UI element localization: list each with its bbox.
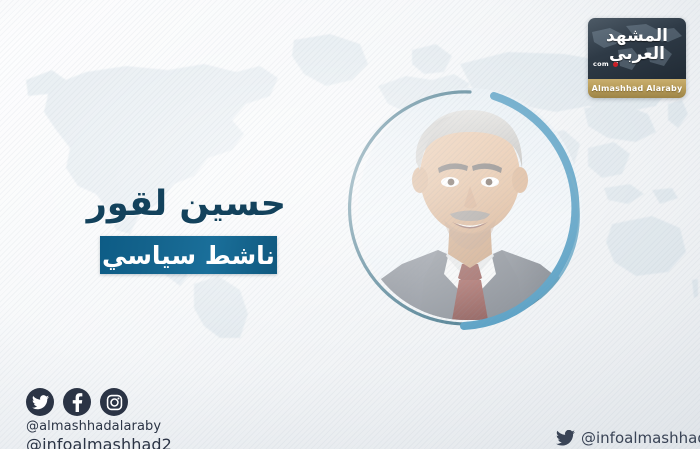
footer-twitter-handle-right: @infoalmashhad2 [556,429,700,447]
bottom-white-strip [0,449,700,459]
logo-latin-name: Almashhad Alaraby [592,84,683,93]
person-name: حسين لقور [0,186,286,223]
portrait-container [350,88,590,328]
logo-bottom-panel: Almashhad Alaraby [588,79,686,98]
logo-arabic-text: المشهد العربي [588,28,686,63]
footer-twitter-handle-text: @infoalmashhad2 [581,429,700,447]
person-title-text: ناشط سياسي [102,243,275,268]
logo-arabic-line1: المشهد [606,26,668,46]
brand-logo: المشهد العربي com Almashhad Alaraby [588,18,686,98]
instagram-icon[interactable] [100,388,128,416]
logo-com-label: com [593,60,609,68]
handle-primary: @almashhadalaraby [26,420,172,435]
facebook-icon[interactable] [63,388,91,416]
twitter-icon[interactable] [26,388,54,416]
logo-red-dot [613,62,618,67]
social-icons-row [26,388,128,416]
person-title-badge: ناشط سياسي [100,236,277,274]
decorative-ring [344,82,596,334]
logo-top-panel: المشهد العربي com [588,18,686,79]
twitter-icon-small [556,430,575,446]
social-media-card: حسين لقور ناشط سياسي المشهد العربي com [0,0,700,459]
